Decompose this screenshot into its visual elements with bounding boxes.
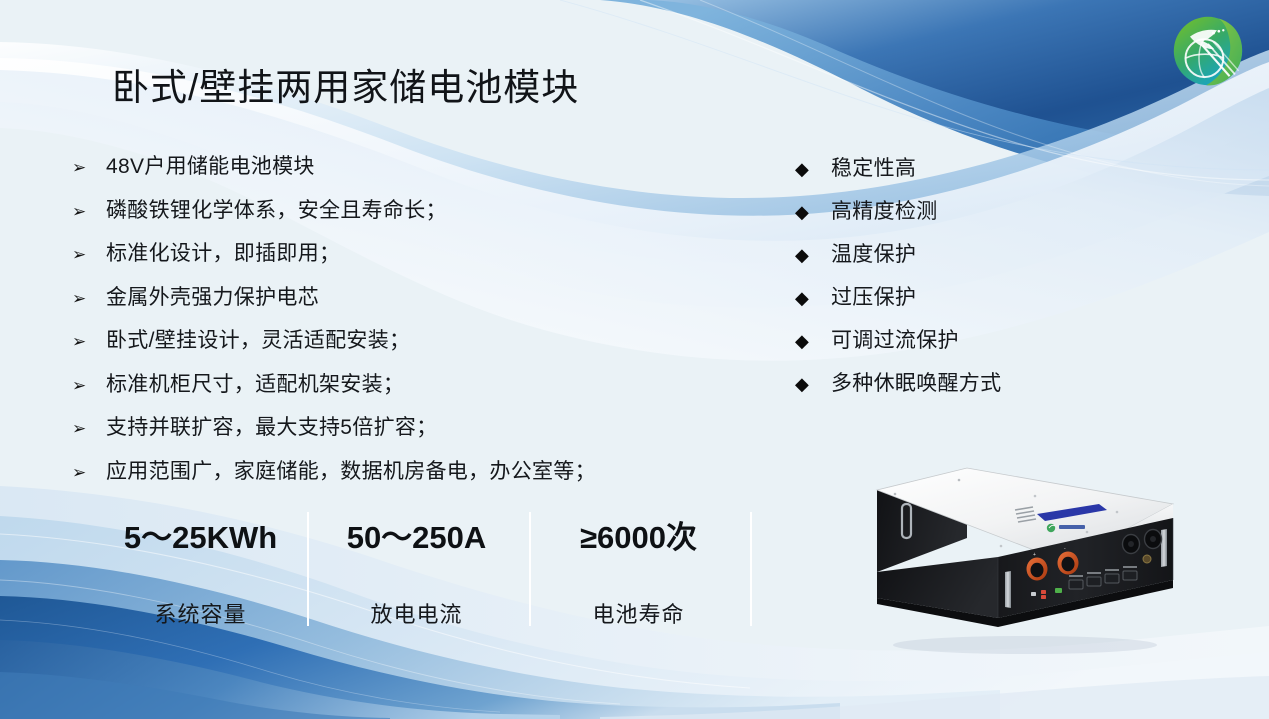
list-item-label: 48V户用储能电池模块 (106, 152, 315, 182)
list-item: ➢ 标准机柜尺寸，适配机架安装； (72, 370, 712, 414)
list-item: ◆ 稳定性高 (795, 155, 1085, 198)
arrow-bullet-icon: ➢ (72, 370, 106, 401)
stat-divider (750, 512, 752, 626)
list-item-label: 支持并联扩容，最大支持5倍扩容； (106, 413, 437, 443)
arrow-bullet-icon: ➢ (72, 457, 106, 488)
list-item: ◆ 过压保护 (795, 284, 1085, 327)
list-item-label: 多种休眠唤醒方式 (831, 370, 1001, 398)
list-item-label: 稳定性高 (831, 155, 916, 183)
stat-value: 5～25KWh (98, 512, 303, 557)
slide-root: 卧式/壁挂两用家储电池模块 ➢ 48V户用储能电池模块 ➢ 磷酸铁锂化学体系，安… (0, 0, 1269, 719)
diamond-bullet-icon: ◆ (795, 284, 831, 312)
stat-discharge-current: 50～250A 放电电流 (314, 512, 519, 629)
list-item-label: 高精度检测 (831, 198, 938, 226)
battery-module-image: + - (855, 452, 1185, 657)
diamond-bullet-icon: ◆ (795, 327, 831, 355)
list-item: ◆ 多种休眠唤醒方式 (795, 370, 1085, 413)
diamond-bullet-icon: ◆ (795, 241, 831, 269)
stat-divider (529, 512, 531, 626)
list-item-label: 温度保护 (831, 241, 916, 269)
list-item-label: 应用范围广，家庭储能，数据机房备电，办公室等； (106, 457, 596, 487)
stat-system-capacity: 5～25KWh 系统容量 (98, 512, 303, 629)
list-item: ➢ 卧式/壁挂设计，灵活适配安装； (72, 326, 712, 370)
list-item: ◆ 温度保护 (795, 241, 1085, 284)
list-item-label: 过压保护 (831, 284, 916, 312)
list-item: ➢ 支持并联扩容，最大支持5倍扩容； (72, 413, 712, 457)
list-item: ➢ 应用范围广，家庭储能，数据机房备电，办公室等； (72, 457, 712, 501)
features-left-list: ➢ 48V户用储能电池模块 ➢ 磷酸铁锂化学体系，安全且寿命长； ➢ 标准化设计… (72, 152, 712, 500)
arrow-bullet-icon: ➢ (72, 413, 106, 444)
list-item-label: 可调过流保护 (831, 327, 959, 355)
arrow-bullet-icon: ➢ (72, 152, 106, 183)
diamond-bullet-icon: ◆ (795, 370, 831, 398)
arrow-bullet-icon: ➢ (72, 283, 106, 314)
features-right-list: ◆ 稳定性高 ◆ 高精度检测 ◆ 温度保护 ◆ 过压保护 ◆ 可调过流保护 ◆ … (795, 155, 1085, 413)
list-item-label: 标准化设计，即插即用； (106, 239, 340, 269)
list-item: ◆ 可调过流保护 (795, 327, 1085, 370)
stat-label: 电池寿命 (536, 597, 741, 629)
stat-battery-life: ≥6000次 电池寿命 (536, 512, 741, 629)
stat-label: 系统容量 (98, 597, 303, 629)
list-item-label: 磷酸铁锂化学体系，安全且寿命长； (106, 196, 447, 226)
arrow-bullet-icon: ➢ (72, 239, 106, 270)
stat-value: 50～250A (314, 512, 519, 557)
list-item: ➢ 48V户用储能电池模块 (72, 152, 712, 196)
list-item: ➢ 金属外壳强力保护电芯 (72, 283, 712, 327)
arrow-bullet-icon: ➢ (72, 196, 106, 227)
list-item-label: 金属外壳强力保护电芯 (106, 283, 319, 313)
list-item: ◆ 高精度检测 (795, 198, 1085, 241)
spec-stats-strip: 5～25KWh 系统容量 50～250A 放电电流 ≥6000次 电池寿命 (92, 512, 752, 628)
diamond-bullet-icon: ◆ (795, 198, 831, 226)
list-item-label: 标准机柜尺寸，适配机架安装； (106, 370, 404, 400)
company-logo (1163, 6, 1253, 96)
stat-label: 放电电流 (314, 597, 519, 629)
list-item: ➢ 标准化设计，即插即用； (72, 239, 712, 283)
list-item-label: 卧式/壁挂设计，灵活适配安装； (106, 326, 410, 356)
list-item: ➢ 磷酸铁锂化学体系，安全且寿命长； (72, 196, 712, 240)
arrow-bullet-icon: ➢ (72, 326, 106, 357)
svg-text:+: + (1033, 552, 1036, 558)
page-title: 卧式/壁挂两用家储电池模块 (112, 57, 579, 111)
stat-divider (307, 512, 309, 626)
diamond-bullet-icon: ◆ (795, 155, 831, 183)
stat-value: ≥6000次 (536, 512, 741, 557)
